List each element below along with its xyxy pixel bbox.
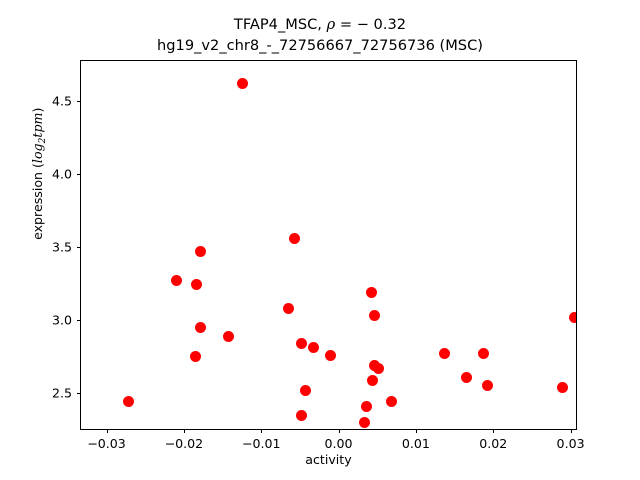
ylabel-tpm: tpm (30, 113, 45, 138)
plot-area (81, 61, 576, 429)
scatter-point (296, 338, 307, 349)
scatter-point (461, 372, 472, 383)
x-axis-tick (571, 429, 572, 433)
y-axis-tick-label: 3.5 (52, 239, 72, 254)
x-axis-tick (339, 429, 340, 433)
x-axis-tick (261, 429, 262, 433)
figure-title: TFAP4_MSC, ρ = − 0.32 hg19_v2_chr8_-_727… (0, 14, 640, 56)
title-line-2: hg19_v2_chr8_-_72756667_72756736 (MSC) (0, 35, 640, 56)
title-rho-value: = − 0.32 (335, 16, 406, 33)
plot-axes: −0.03−0.02−0.010.000.010.020.032.53.03.5… (80, 60, 577, 430)
scatter-point (482, 380, 493, 391)
scatter-point (557, 382, 568, 393)
scatter-point (191, 279, 202, 290)
y-axis-tick-label: 4.5 (52, 93, 72, 108)
scatter-point (195, 246, 206, 257)
y-axis-tick-label: 4.0 (52, 166, 72, 181)
x-axis-label: activity (80, 452, 577, 467)
scatter-point (190, 351, 201, 362)
x-axis-tick-label: −0.01 (242, 436, 281, 451)
x-axis-tick-label: −0.02 (165, 436, 204, 451)
rho-symbol: ρ (327, 16, 336, 33)
scatter-point (361, 401, 372, 412)
y-axis-tick (77, 101, 81, 102)
scatter-point (296, 410, 307, 421)
scatter-point (171, 275, 182, 286)
scatter-point (569, 312, 576, 323)
scatter-point (478, 348, 489, 359)
ylabel-pre: expression ( (30, 163, 45, 240)
x-axis-tick-label: 0.01 (402, 436, 430, 451)
scatter-point (366, 287, 377, 298)
scatter-point (123, 396, 134, 407)
y-axis-tick-label: 3.0 (52, 313, 72, 328)
y-axis-label: expression (log2tpm) (30, 49, 48, 299)
scatter-point (300, 385, 311, 396)
x-axis-tick-label: 0.02 (479, 436, 507, 451)
ylabel-log: log (30, 143, 45, 163)
scatter-point (367, 375, 378, 386)
scatter-point (223, 331, 234, 342)
scatter-point (359, 417, 370, 428)
scatter-point (283, 303, 294, 314)
scatter-figure: TFAP4_MSC, ρ = − 0.32 hg19_v2_chr8_-_727… (0, 0, 640, 480)
scatter-point (439, 348, 450, 359)
scatter-point (308, 342, 319, 353)
x-axis-tick (416, 429, 417, 433)
x-axis-tick (184, 429, 185, 433)
x-axis-tick-label: 0.00 (325, 436, 353, 451)
x-axis-tick (493, 429, 494, 433)
title-line-1: TFAP4_MSC, ρ = − 0.32 (0, 14, 640, 35)
y-axis-tick (77, 247, 81, 248)
scatter-point (373, 363, 384, 374)
y-axis-tick (77, 393, 81, 394)
scatter-point (237, 78, 248, 89)
y-axis-tick (77, 174, 81, 175)
scatter-point (195, 322, 206, 333)
y-axis-tick (77, 320, 81, 321)
scatter-point (386, 396, 397, 407)
title-gene-prefix: TFAP4_MSC, (234, 16, 327, 33)
y-axis-tick-label: 2.5 (52, 386, 72, 401)
x-axis-tick (107, 429, 108, 433)
x-axis-tick-label: 0.03 (557, 436, 585, 451)
x-axis-tick-label: −0.03 (87, 436, 126, 451)
scatter-point (369, 310, 380, 321)
scatter-point (325, 350, 336, 361)
ylabel-post: ) (30, 108, 45, 113)
ylabel-subscript: 2 (38, 138, 48, 144)
scatter-point (289, 233, 300, 244)
